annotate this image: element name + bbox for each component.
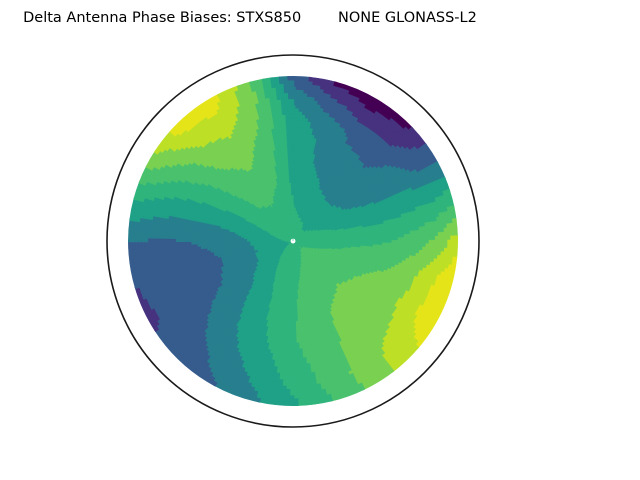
contour-fill-layer bbox=[128, 76, 457, 405]
page-title: Delta Antenna Phase Biases: STXS850 NONE… bbox=[0, 10, 500, 26]
polar-contour-plot bbox=[0, 0, 640, 480]
figure-canvas: Delta Antenna Phase Biases: STXS850 NONE… bbox=[0, 0, 640, 480]
